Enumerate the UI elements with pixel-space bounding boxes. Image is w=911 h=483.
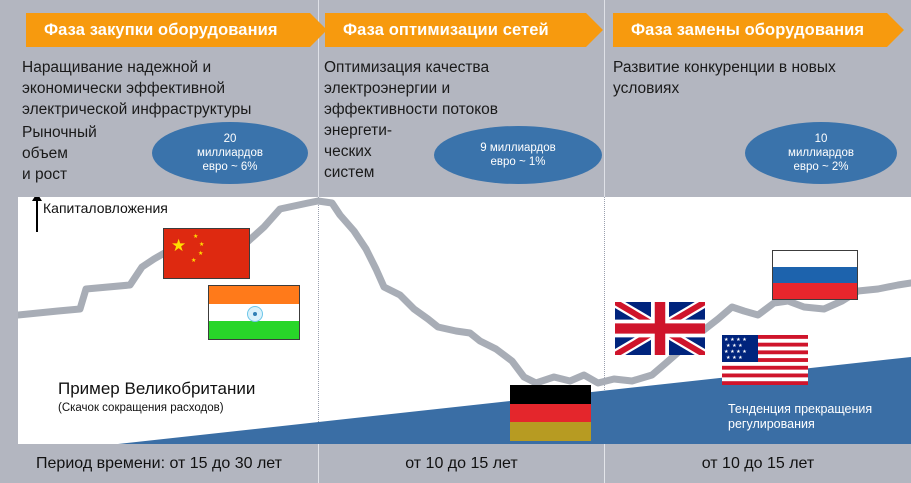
period-label-procurement: Период времени: от 15 до 30 лет <box>0 444 318 483</box>
russia-red-band <box>773 283 857 299</box>
germany-red-band <box>510 404 591 423</box>
india-chakra-icon <box>247 306 263 322</box>
y-axis-label: Капиталовложения <box>43 200 168 216</box>
india-flag <box>208 285 300 340</box>
svg-text:★ ★ ★: ★ ★ ★ <box>726 355 743 361</box>
united-kingdom-flag <box>615 302 705 355</box>
phase-banner-label: Фаза закупки оборудования <box>44 21 278 40</box>
uk-example-title: Пример Великобритании <box>58 379 255 399</box>
up-arrow-icon <box>36 200 38 232</box>
phase-subtitle-procurement: Рыночный объем и рост <box>22 122 152 185</box>
period-label-optimization: от 10 до 15 лет <box>319 444 604 483</box>
union-jack-icon <box>615 302 705 355</box>
period-label-replacement: от 10 до 15 лет <box>605 444 911 483</box>
phase-banner-label: Фаза оптимизации сетей <box>343 21 549 40</box>
russia-white-band <box>773 251 857 267</box>
india-saffron-band <box>209 286 299 304</box>
china-star-small-3: ★ <box>198 251 203 257</box>
stars-and-stripes-icon: ★ ★ ★ ★ ★ ★ ★ ★ ★ ★ ★ ★ ★ ★ <box>722 335 808 385</box>
china-star-large: ★ <box>171 237 186 254</box>
uk-example-subtitle: (Скачок сокращения расходов) <box>58 402 224 414</box>
callout-ellipse-procurement: 20 миллиардов евро ~ 6% <box>152 122 308 184</box>
column-separator-2 <box>604 0 605 197</box>
united-states-flag: ★ ★ ★ ★ ★ ★ ★ ★ ★ ★ ★ ★ ★ ★ <box>722 335 808 385</box>
phase-description-procurement: Наращивание надежной и экономически эффе… <box>22 57 322 120</box>
callout-ellipse-replacement: 10 миллиардов евро ~ 2% <box>745 122 897 184</box>
china-flag: ★ ★ ★ ★ ★ <box>163 228 250 279</box>
germany-gold-band <box>510 422 591 441</box>
russia-blue-band <box>773 267 857 283</box>
callout-ellipse-optimization: 9 миллиардов евро ~ 1% <box>434 126 602 184</box>
china-star-small-2: ★ <box>199 242 204 248</box>
investment-chart: Капиталовложения Пример Великобритании (… <box>18 197 911 444</box>
phase-banner-procurement[interactable]: Фаза закупки оборудования <box>26 13 310 47</box>
germany-black-band <box>510 385 591 404</box>
phase-banner-replacement[interactable]: Фаза замены оборудования <box>613 13 887 47</box>
russia-flag <box>772 250 858 300</box>
china-star-small-4: ★ <box>191 258 196 264</box>
china-star-small-1: ★ <box>193 234 198 240</box>
phase-banner-label: Фаза замены оборудования <box>631 21 864 40</box>
germany-flag <box>510 385 591 441</box>
deregulation-trend-label: Тенденция прекращения регулирования <box>728 402 872 432</box>
india-green-band <box>209 321 299 339</box>
phase-banner-optimization[interactable]: Фаза оптимизации сетей <box>325 13 586 47</box>
infographic-root: Фаза закупки оборудования Наращивание на… <box>0 0 911 483</box>
phase-description-replacement: Развитие конкуренции в новых условиях <box>613 57 905 99</box>
